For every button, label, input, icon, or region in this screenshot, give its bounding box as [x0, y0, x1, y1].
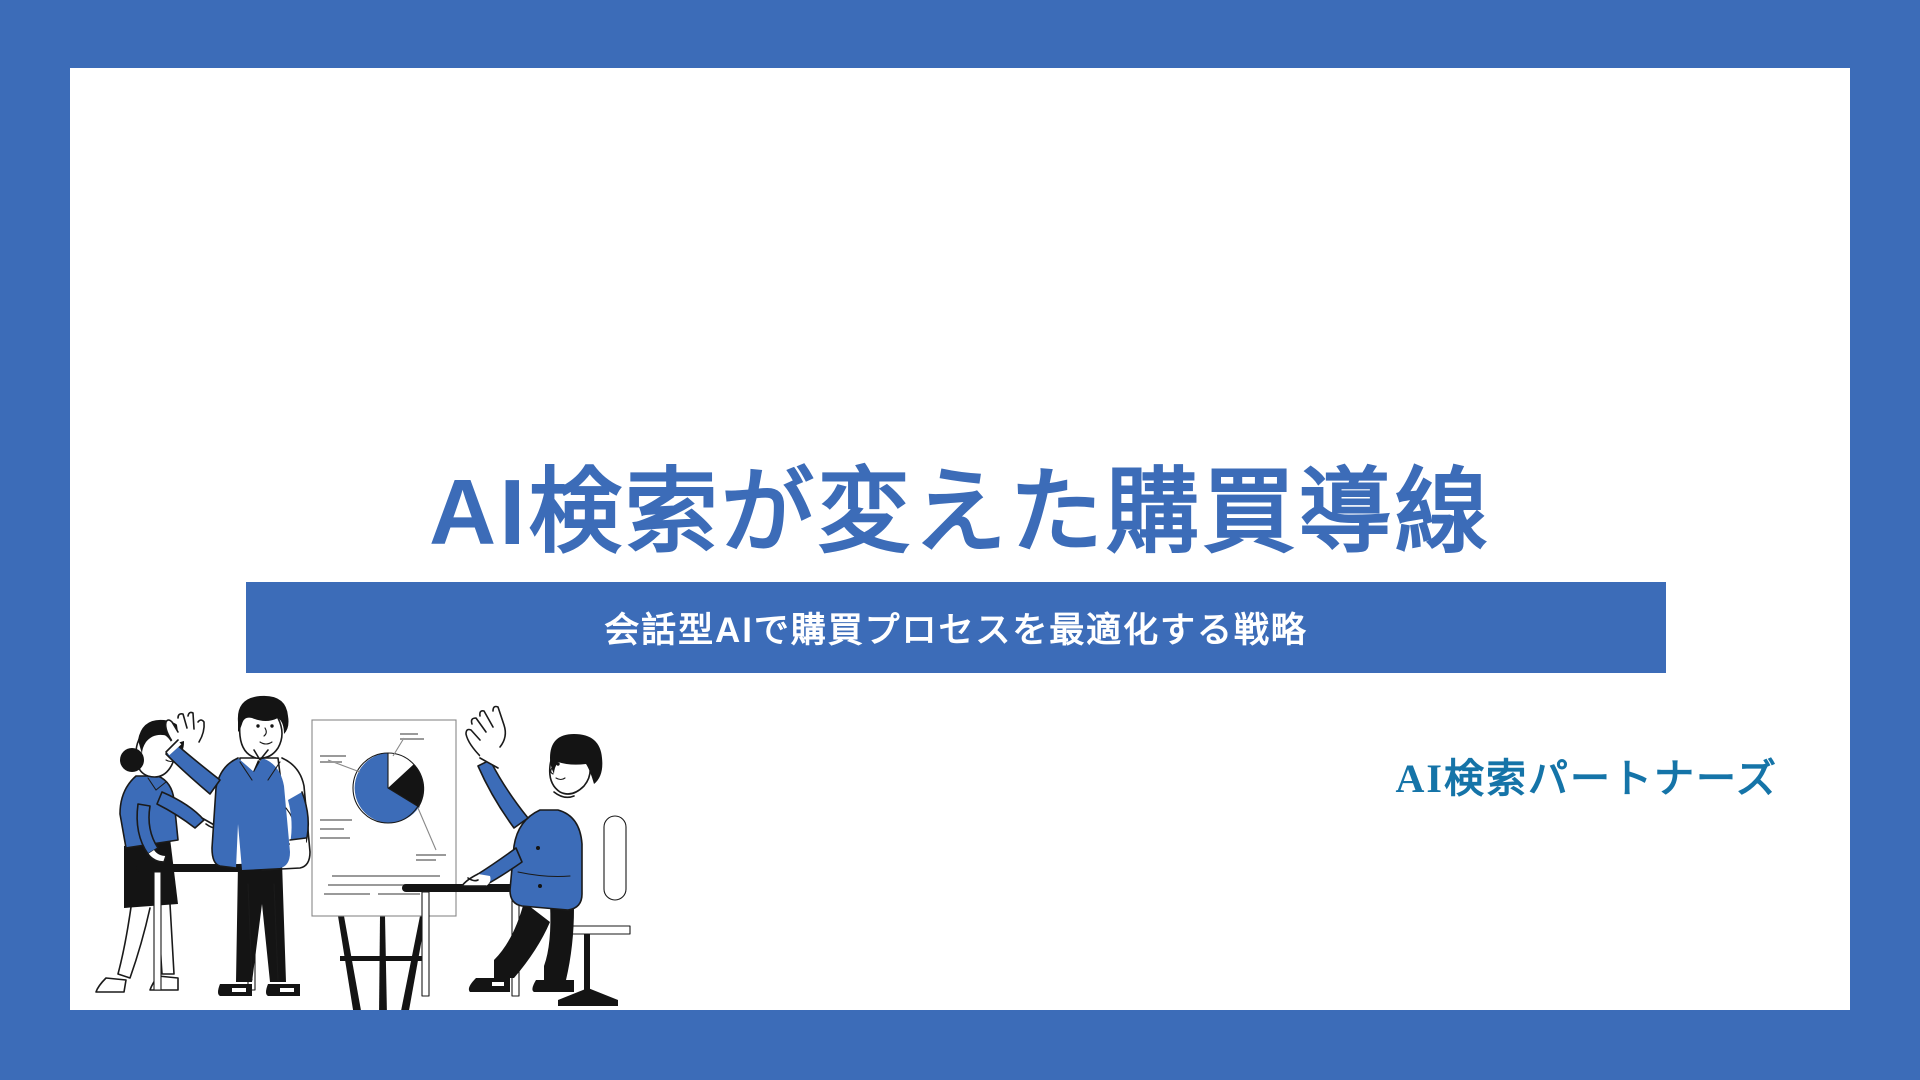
subtitle-text: 会話型AIで購買プロセスを最適化する戦略	[604, 602, 1308, 653]
figure-standing-man	[163, 696, 310, 996]
easel-flipchart	[312, 720, 456, 1010]
pie-chart-graphic	[353, 753, 424, 823]
figure-woman-pointing	[96, 720, 228, 992]
slide-root: AI検索が変えた購買導線 会話型AIで購買プロセスを最適化する戦略 AI検索パー…	[0, 0, 1920, 1080]
subtitle-band: 会話型AIで購買プロセスを最適化する戦略	[246, 582, 1666, 673]
figure-seated-person	[462, 707, 630, 1007]
business-presentation-illustration: .ln { fill:none; stroke:#1a1a1a; stroke-…	[88, 688, 728, 1010]
page-title: AI検索が変えた購買導線	[70, 460, 1850, 564]
brand-wordmark: AI検索パートナーズ	[1396, 746, 1778, 804]
slide-card: AI検索が変えた購買導線 会話型AIで購買プロセスを最適化する戦略 AI検索パー…	[70, 68, 1850, 1010]
